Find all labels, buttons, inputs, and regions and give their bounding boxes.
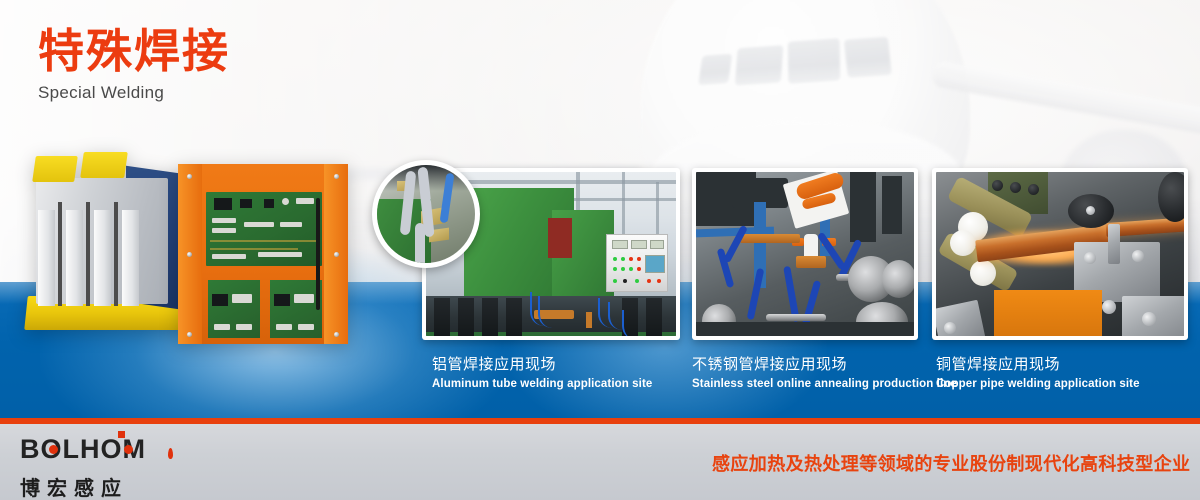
page-title-cn: 特殊焊接	[38, 26, 230, 77]
caption-en: Copper pipe welding application site	[936, 378, 1140, 390]
company-tagline: 感应加热及热处理等领域的专业股份制现代化高科技型企业	[712, 450, 1190, 476]
photo-copper-pipe[interactable]	[932, 168, 1188, 340]
company-logo[interactable]: BOLHOM 博宏感应	[20, 436, 200, 500]
transformer-bar	[86, 202, 90, 306]
transformer-strip	[38, 210, 55, 306]
transformer-yellow-cap-left	[32, 156, 78, 182]
page-title-en: Special Welding	[38, 83, 230, 103]
circular-inset-photo[interactable]	[372, 160, 480, 268]
transformer-strip	[94, 210, 111, 306]
cabinet-main-pcb	[206, 192, 322, 266]
photo-stainless-steel[interactable]	[692, 168, 918, 340]
product-transformer-stack	[8, 150, 198, 342]
logo-wordmark: BOLHOM	[20, 436, 200, 463]
caption-cn: 不锈钢管焊接应用现场	[692, 356, 957, 375]
transformer-bar	[114, 202, 118, 306]
caption-en: Stainless steel online annealing product…	[692, 378, 957, 390]
logo-dot-icon	[124, 445, 133, 454]
transformer-strip	[122, 210, 139, 306]
cabinet-sub-pcb	[208, 280, 260, 338]
product-control-cabinet	[178, 164, 348, 344]
transformer-yellow-cap-right	[80, 152, 128, 178]
control-panel	[606, 234, 668, 292]
logo-name-cn: 博宏感应	[20, 472, 200, 500]
cabinet-sub-pcb	[270, 280, 322, 338]
special-welding-banner: 特殊焊接 Special Welding	[0, 0, 1200, 500]
logo-flame-icon	[168, 448, 173, 459]
caption-stainless-steel: 不锈钢管焊接应用现场 Stainless steel online anneal…	[692, 356, 957, 390]
transformer-strip	[66, 210, 83, 306]
caption-cn: 铝管焊接应用现场	[432, 356, 652, 375]
transformer-bar	[58, 202, 62, 306]
caption-en: Aluminum tube welding application site	[432, 378, 652, 390]
logo-dot-icon	[49, 445, 58, 454]
logo-square-icon	[118, 431, 125, 438]
red-access-panel	[548, 218, 572, 258]
title-block: 特殊焊接 Special Welding	[38, 26, 230, 103]
cabinet-wire	[316, 198, 320, 310]
caption-cn: 铜管焊接应用现场	[936, 356, 1140, 375]
caption-aluminum-tube: 铝管焊接应用现场 Aluminum tube welding applicati…	[432, 356, 652, 390]
caption-copper-pipe: 铜管焊接应用现场 Copper pipe welding application…	[936, 356, 1140, 390]
